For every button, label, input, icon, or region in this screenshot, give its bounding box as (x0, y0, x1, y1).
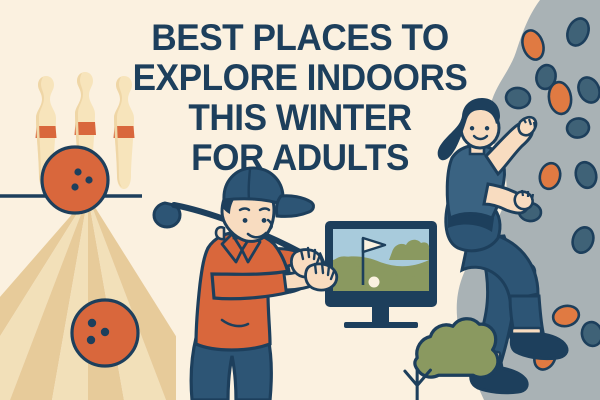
golf-simulator-scene (0, 0, 600, 400)
golf-ball (369, 277, 380, 288)
poster-canvas: BEST PLACES TO EXPLORE INDOORS THIS WINT… (0, 0, 600, 400)
bush (405, 319, 498, 400)
cap-brim (276, 196, 313, 217)
golf-monitor (325, 221, 437, 328)
monitor-base (344, 322, 418, 328)
golfer (154, 168, 337, 400)
